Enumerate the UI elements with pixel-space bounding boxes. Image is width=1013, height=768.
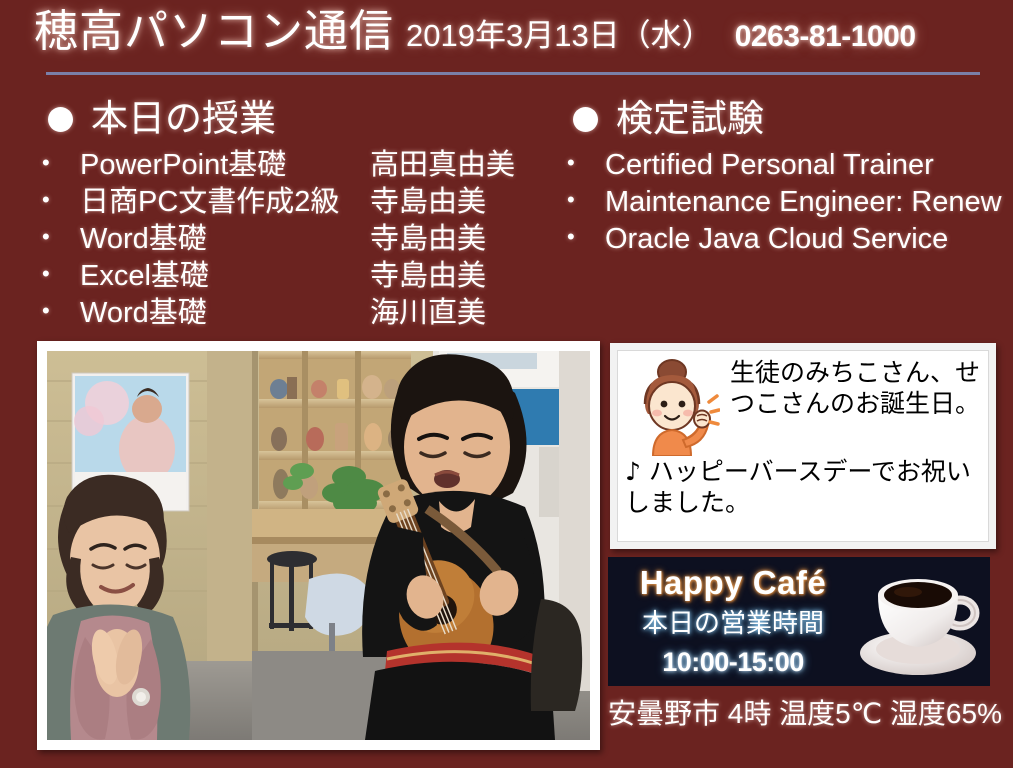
list-item: • Certified Personal Trainer (555, 147, 1005, 184)
list-bullet-icon: • (555, 184, 605, 216)
exam-name: Maintenance Engineer: Renew (605, 184, 1005, 221)
list-bullet-icon: • (30, 184, 80, 216)
list-bullet-icon: • (30, 295, 80, 327)
list-bullet-icon: • (555, 147, 605, 179)
lessons-list: • PowerPoint基礎 高田真由美 • 日商PC文書作成2級 寺島由美 •… (30, 147, 560, 333)
birthday-note-line-1: 生徒のみちこさん、せつこさんのお誕生日。 (730, 356, 981, 419)
lesson-name: PowerPoint基礎 (80, 147, 370, 184)
list-item: • PowerPoint基礎 高田真由美 (30, 147, 560, 184)
exams-section: 検定試験 • Certified Personal Trainer • Main… (555, 98, 1005, 258)
bullet-dot-icon (573, 107, 598, 132)
header-phone-number: 0263-81-1000 (735, 22, 916, 52)
lesson-teacher: 寺島由美 (370, 184, 486, 221)
list-item: • Oracle Java Cloud Service (555, 221, 1005, 258)
lesson-teacher: 海川直美 (370, 295, 486, 332)
list-bullet-icon: • (555, 221, 605, 253)
lesson-name: Word基礎 (80, 295, 370, 332)
birthday-note-line-2: ♪ ハッピーバースデーでお祝いしました。 (625, 457, 981, 518)
list-bullet-icon: • (30, 258, 80, 290)
list-bullet-icon: • (30, 147, 80, 179)
exam-name: Oracle Java Cloud Service (605, 221, 1005, 258)
waving-woman-icon (625, 356, 720, 456)
photo-frame (37, 341, 600, 750)
exams-list: • Certified Personal Trainer • Maintenan… (555, 147, 1005, 258)
list-item: • Excel基礎 寺島由美 (30, 258, 560, 295)
happy-cafe-banner: Happy Café 本日の営業時間 10:00-15:00 (608, 557, 990, 686)
bullet-dot-icon (48, 107, 73, 132)
coffee-cup-icon (856, 561, 986, 683)
exam-name: Certified Personal Trainer (605, 147, 1005, 184)
birthday-note-card: 生徒のみちこさん、せつこさんのお誕生日。 ♪ ハッピーバースデーでお祝いしました… (610, 343, 996, 549)
event-photo (47, 351, 590, 740)
cafe-title: Happy Café (608, 566, 858, 599)
lesson-name: 日商PC文書作成2級 (80, 184, 370, 221)
lessons-heading: 本日の授業 (48, 98, 560, 141)
weather-status: 安曇野市 4時 温度5℃ 湿度65% (608, 700, 1008, 728)
birthday-note-top: 生徒のみちこさん、せつこさんのお誕生日。 (625, 356, 981, 456)
lessons-heading-label: 本日の授業 (91, 98, 276, 141)
lesson-name: Excel基礎 (80, 258, 370, 295)
exams-heading-label: 検定試験 (616, 98, 764, 141)
cafe-hours-label: 本日の営業時間 (608, 610, 858, 636)
lessons-section: 本日の授業 • PowerPoint基礎 高田真由美 • 日商PC文書作成2級 … (30, 98, 560, 332)
exams-heading: 検定試験 (573, 98, 1005, 141)
list-item: • Maintenance Engineer: Renew (555, 184, 1005, 221)
page-header: 穂高パソコン通信 2019年3月13日（水） 0263-81-1000 (0, 0, 1013, 84)
cafe-text-block: Happy Café 本日の営業時間 10:00-15:00 (608, 557, 858, 676)
cafe-hours-value: 10:00-15:00 (608, 649, 858, 676)
header-date: 2019年3月13日（水） (406, 20, 713, 51)
page-title: 穂高パソコン通信 (34, 10, 394, 54)
list-bullet-icon: • (30, 221, 80, 253)
list-item: • 日商PC文書作成2級 寺島由美 (30, 184, 560, 221)
lesson-teacher: 高田真由美 (370, 147, 515, 184)
lesson-teacher: 寺島由美 (370, 258, 486, 295)
slide-canvas: 穂高パソコン通信 2019年3月13日（水） 0263-81-1000 本日の授… (0, 0, 1013, 768)
header-divider (46, 72, 980, 75)
list-item: • Word基礎 海川直美 (30, 295, 560, 332)
list-item: • Word基礎 寺島由美 (30, 221, 560, 258)
lesson-name: Word基礎 (80, 221, 370, 258)
header-text-row: 穂高パソコン通信 2019年3月13日（水） 0263-81-1000 (34, 10, 916, 54)
lesson-teacher: 寺島由美 (370, 221, 486, 258)
